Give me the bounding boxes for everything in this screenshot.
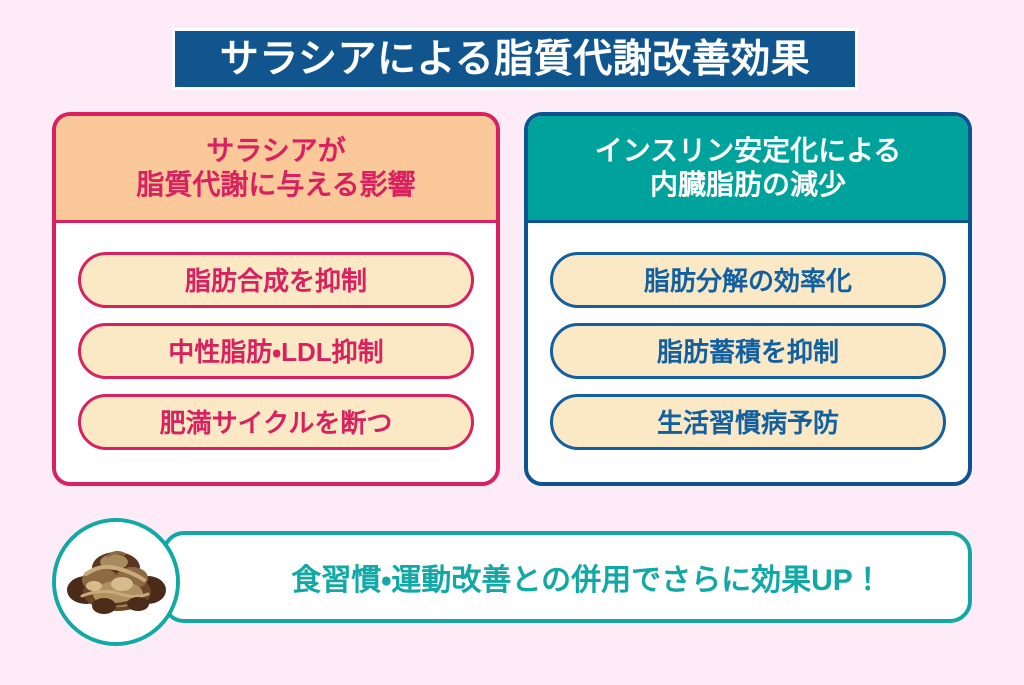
card-header-left-line2: 脂質代謝に与える影響: [136, 168, 415, 202]
salacia-chips-illustration: [56, 522, 176, 642]
card-header-right-line2: 内臓脂肪の減少: [650, 168, 846, 202]
card-header-right: インスリン安定化による 内臓脂肪の減少: [528, 116, 968, 223]
card-header-left: サラシアが 脂質代謝に与える影響: [56, 116, 496, 223]
bottom-banner-text: 食習慣・運動改善との併用でさらに効果UP！: [251, 555, 883, 599]
bottom-callout: 食習慣・運動改善との併用でさらに効果UP！: [52, 518, 972, 652]
page-title: サラシアによる脂質代謝改善効果: [220, 40, 811, 79]
salacia-root-photo: [52, 518, 180, 646]
card-header-left-line1: サラシアが: [206, 134, 345, 168]
card-insulin-visceral-fat: インスリン安定化による 内臓脂肪の減少 脂肪分解の効率化 脂肪蓄積を抑制 生活習…: [524, 112, 972, 486]
page-title-banner: サラシアによる脂質代謝改善効果: [172, 28, 858, 90]
card-body-left: 脂肪合成を抑制 中性脂肪・LDL抑制 肥満サイクルを断つ: [56, 223, 496, 482]
list-item: 肥満サイクルを断つ: [78, 394, 474, 450]
infographic-page: サラシアによる脂質代謝改善効果 サラシアが 脂質代謝に与える影響 脂肪合成を抑制…: [0, 0, 1024, 685]
list-item: 脂肪蓄積を抑制: [550, 323, 946, 379]
list-item: 脂肪合成を抑制: [78, 252, 474, 308]
list-item: 生活習慣病予防: [550, 394, 946, 450]
cards-row: サラシアが 脂質代謝に与える影響 脂肪合成を抑制 中性脂肪・LDL抑制 肥満サイ…: [52, 112, 972, 486]
list-item: 脂肪分解の効率化: [550, 252, 946, 308]
card-salacia-lipid-metabolism: サラシアが 脂質代謝に与える影響 脂肪合成を抑制 中性脂肪・LDL抑制 肥満サイ…: [52, 112, 500, 486]
card-body-right: 脂肪分解の効率化 脂肪蓄積を抑制 生活習慣病予防: [528, 223, 968, 482]
bottom-banner: 食習慣・運動改善との併用でさらに効果UP！: [162, 531, 972, 623]
list-item: 中性脂肪・LDL抑制: [78, 323, 474, 379]
card-header-right-line1: インスリン安定化による: [595, 134, 902, 168]
